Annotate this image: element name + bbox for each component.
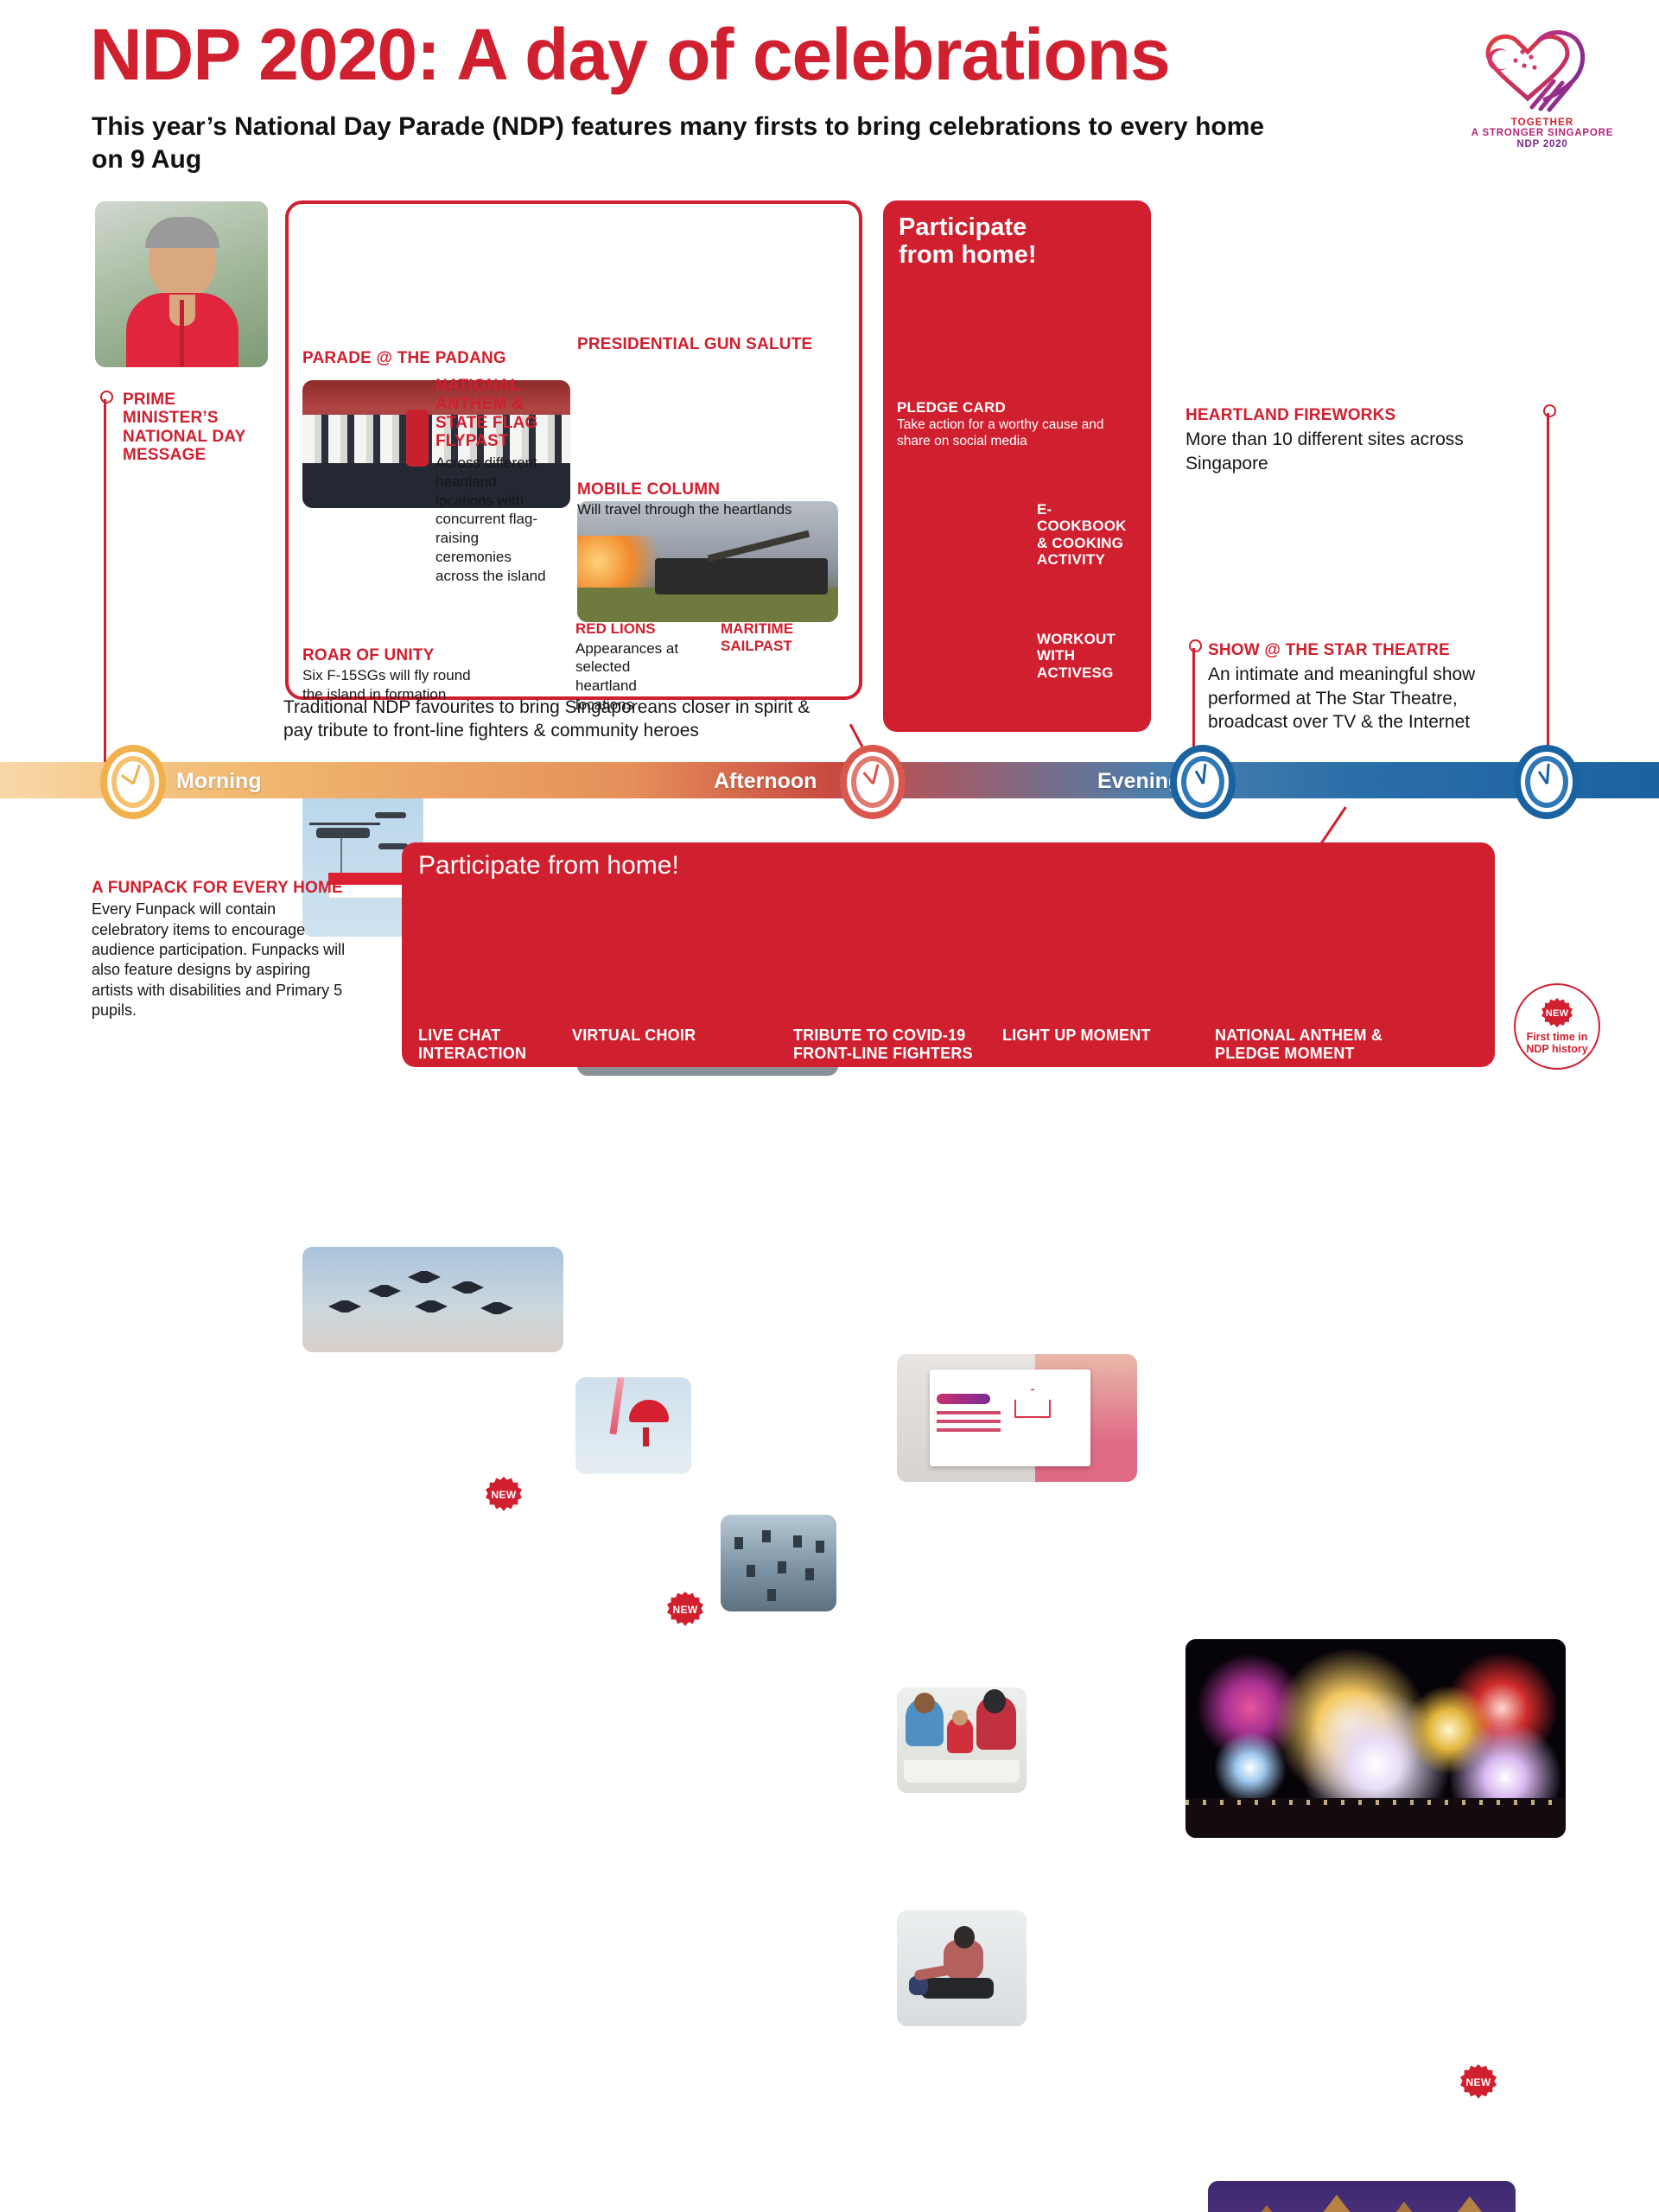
star-theatre-desc: An intimate and meaningful show performe…: [1208, 663, 1493, 734]
logo-line-3: NDP 2020: [1460, 139, 1624, 149]
ndp-logo: TOGETHER A STRONGER SINGAPORE NDP 2020: [1460, 24, 1624, 162]
new-badge-roar-of-unity: NEW: [486, 1477, 522, 1513]
heart-hands-icon: [1478, 24, 1607, 114]
live-chat-title: LIVE CHAT INTERACTION: [418, 1027, 548, 1062]
light-up-title: LIGHT UP MOMENT: [1002, 1027, 1175, 1045]
flypast-title: NATIONAL ANTHEM & STATE FLAG FLYPAST: [435, 377, 548, 450]
mobile-column-title: MOBILE COLUMN: [577, 480, 836, 499]
new-legend-text: First time in NDP history: [1516, 1031, 1599, 1055]
maritime-sailpast-title: MARITIME SAILPAST: [721, 620, 836, 654]
new-badge-legend: NEW: [1541, 998, 1573, 1029]
timeline-label-afternoon: Afternoon: [714, 769, 817, 794]
maritime-sailpast-photo: [721, 1515, 836, 1611]
logo-line-2: A STRONGER SINGAPORE: [1460, 128, 1624, 138]
workout-photo: [897, 1910, 1027, 2026]
heartland-fireworks-title: HEARTLAND FIREWORKS: [1185, 406, 1488, 424]
new-badge-label: NEW: [1541, 998, 1573, 1029]
roar-of-unity-title: ROAR OF UNITY: [302, 646, 493, 664]
anthem-pledge-title: NATIONAL ANTHEM & PLEDGE MOMENT: [1215, 1027, 1431, 1062]
bottom-heading: Participate from home!: [418, 851, 679, 880]
star-theatre-title: SHOW @ THE STAR THEATRE: [1208, 641, 1493, 659]
mobile-column-desc: Will travel through the heartlands: [577, 500, 836, 519]
covid-tribute-title: TRIBUTE TO COVID-19 FRONT-LINE FIGHTERS: [793, 1027, 992, 1062]
ecookbook-photo: [897, 1688, 1027, 1793]
virtual-choir-title: VIRTUAL CHOIR: [572, 1027, 736, 1045]
flypast-desc: Across different heartland locations wit…: [435, 454, 548, 585]
clock-icon-morning: [100, 745, 166, 819]
ecookbook-title: E-COOKBOOK & COOKING ACTIVITY: [1037, 501, 1141, 569]
new-legend-badge: NEW First time in NDP history: [1514, 983, 1600, 1070]
fireworks-connector-line: [1547, 413, 1549, 766]
clock-icon-evening: [1170, 745, 1236, 819]
parade-padang-title: PARADE @ THE PADANG: [302, 349, 579, 367]
page-title: NDP 2020: A day of celebrations: [90, 21, 1438, 90]
roar-of-unity-photo: [302, 1247, 563, 1352]
red-lions-photo: [575, 1377, 691, 1474]
timeline-label-morning: Morning: [176, 769, 262, 794]
funpack-title: A FUNPACK FOR EVERY HOME: [92, 879, 351, 897]
funpack-desc: Every Funpack will contain celebratory i…: [92, 899, 351, 1020]
star-theatre-connector-dot: [1189, 639, 1202, 652]
pledge-card-desc: Take action for a worthy cause and share…: [897, 417, 1122, 450]
pledge-card-title: PLEDGE CARD: [897, 399, 1122, 416]
afternoon-heading: Participate from home!: [899, 214, 1080, 270]
timeline-label-evening: Evening: [1097, 769, 1181, 794]
workout-title: WORKOUT WITH ACTIVESG: [1037, 631, 1141, 681]
page-subtitle: This year’s National Day Parade (NDP) fe…: [92, 111, 1284, 177]
heartland-fireworks-desc: More than 10 different sites across Sing…: [1185, 428, 1488, 475]
new-badge-red-lions: NEW: [667, 1592, 703, 1628]
logo-line-1: TOGETHER: [1460, 118, 1624, 128]
pm-message-label-text: PRIME MINISTER’S NATIONAL DAY MESSAGE: [123, 391, 275, 464]
gun-salute-title: PRESIDENTIAL GUN SALUTE: [577, 335, 845, 353]
morning-caption: Traditional NDP favourites to bring Sing…: [283, 696, 836, 743]
fireworks-connector-dot: [1543, 404, 1556, 417]
star-theatre-photo: [1208, 2181, 1516, 2212]
heartland-fireworks-photo: [1185, 1639, 1566, 1838]
pledge-card-photo: [897, 1354, 1137, 1482]
new-badge-heartland-fireworks: NEW: [1460, 2064, 1497, 2101]
clock-icon-afternoon: [840, 745, 906, 819]
pm-connector-line: [104, 399, 106, 766]
pm-message-photo: [95, 201, 268, 367]
pm-connector-dot: [100, 391, 113, 404]
new-badge-label: NEW: [1460, 2064, 1497, 2101]
pm-message-label: PRIME MINISTER’S NATIONAL DAY MESSAGE: [123, 391, 275, 464]
new-badge-label: NEW: [667, 1592, 703, 1628]
red-lions-title: RED LIONS: [575, 620, 691, 638]
clock-icon-night: [1514, 745, 1580, 819]
new-badge-label: NEW: [486, 1477, 522, 1513]
